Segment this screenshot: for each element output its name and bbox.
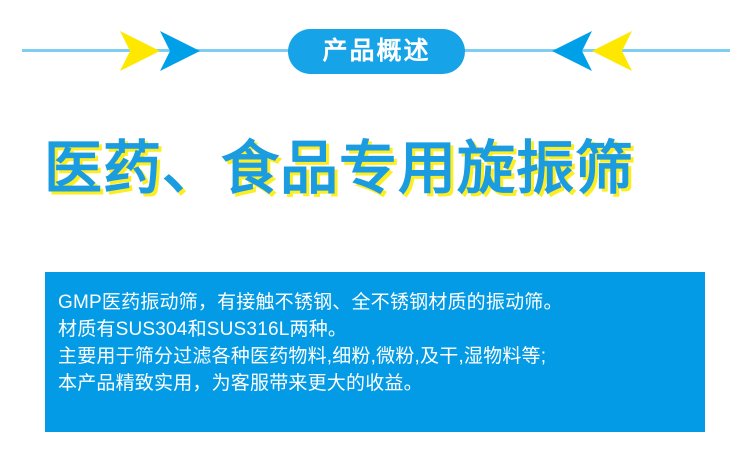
description-line: GMP医药振动筛，有接触不锈钢、全不锈钢材质的振动筛。 — [58, 289, 705, 316]
arrow-right-yellow-icon — [118, 29, 160, 73]
description-line: 本产品精致实用，为客服带来更大的收益。 — [58, 370, 705, 397]
product-description-box: GMP医药振动筛，有接触不锈钢、全不锈钢材质的振动筛。 材质有SUS304和SU… — [45, 272, 705, 432]
description-line: 主要用于筛分过滤各种医药物料,细粉,微粉,及干,湿物料等; — [58, 343, 705, 370]
arrow-group-right — [552, 29, 634, 73]
arrow-group-left — [118, 29, 200, 73]
section-title-text: 产品概述 — [322, 39, 430, 64]
section-header-band: 产品概述 — [0, 0, 752, 102]
description-line: 材质有SUS304和SUS316L两种。 — [58, 316, 705, 343]
arrow-left-blue-icon — [552, 29, 594, 73]
section-title-badge: 产品概述 — [288, 29, 465, 74]
arrow-right-blue-icon — [158, 29, 200, 73]
arrow-left-yellow-icon — [592, 29, 634, 73]
product-headline: 医药、食品专用旋振筛 — [44, 132, 724, 206]
